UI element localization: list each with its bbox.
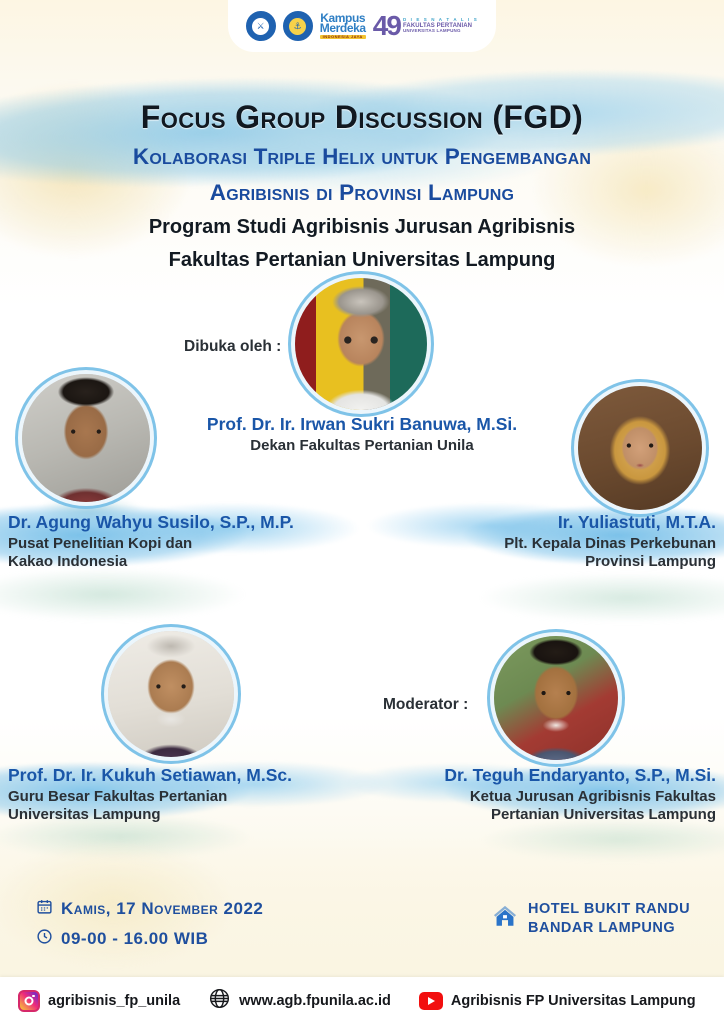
person-name: Ir. Yuliastuti, M.T.A.: [504, 512, 716, 532]
avatar-kukuh-setiawan: [108, 631, 234, 757]
page-title: Focus Group Discussion (FGD): [0, 100, 724, 135]
person-name: Prof. Dr. Ir. Kukuh Setiawan, M.Sc.: [8, 765, 292, 785]
person-role-line-2: Kakao Indonesia: [8, 553, 294, 571]
youtube-text: Agribisnis FP Universitas Lampung: [451, 993, 696, 1009]
instagram-text: agribisnis_fp_unila: [48, 993, 180, 1009]
person-kukuh-setiawan: [108, 631, 234, 757]
moderator-label: Moderator :: [383, 696, 468, 714]
logo-strip: ⚔ ⚓ Kampus Merdeka INDONESIA JAYA 49 D I…: [228, 0, 496, 52]
kemdikbud-seal-icon: ⚔: [246, 11, 276, 41]
instagram-handle[interactable]: agribisnis_fp_unila: [18, 990, 180, 1012]
home-icon: [492, 903, 518, 934]
youtube-icon: [419, 992, 443, 1010]
title-block: Focus Group Discussion (FGD) Kolaborasi …: [0, 100, 724, 273]
opened-by-label: Dibuka oleh :: [184, 338, 281, 356]
person-role-line-1: Guru Besar Fakultas Pertanian: [8, 788, 292, 806]
kampus-merdeka-line2: Merdeka: [320, 23, 366, 34]
event-time: 09-00 - 16.00 WIB: [61, 929, 208, 949]
person-role-line-1: Ketua Jurusan Agribisnis Fakultas: [444, 788, 716, 806]
person-role-line-2: Pertanian Universitas Lampung: [444, 806, 716, 824]
dies-natalis-line3: UNIVERSITAS LAMPUNG: [403, 29, 478, 34]
organizer-line-1: Program Studi Agribisnis Jurusan Agribis…: [0, 215, 724, 239]
footer-bar: agribisnis_fp_unila www.agb.fpunila.ac.i…: [0, 977, 724, 1024]
label-kukuh-setiawan: Prof. Dr. Ir. Kukuh Setiawan, M.Sc. Guru…: [8, 765, 292, 824]
person-teguh-endaryanto: [494, 636, 618, 760]
event-time-row: 09-00 - 16.00 WIB: [36, 928, 263, 950]
subtitle-line-1: Kolaborasi Triple Helix untuk Pengembang…: [0, 143, 724, 170]
dies-natalis-number: 49: [373, 12, 400, 40]
label-irwan-sukri-banuwa: Prof. Dr. Ir. Irwan Sukri Banuwa, M.Si. …: [0, 414, 724, 455]
poster-canvas: ⚔ ⚓ Kampus Merdeka INDONESIA JAYA 49 D I…: [0, 0, 724, 1024]
venue-line-2: BANDAR LAMPUNG: [528, 920, 675, 936]
website-text: www.agb.fpunila.ac.id: [239, 993, 391, 1009]
label-teguh-endaryanto: Dr. Teguh Endaryanto, S.P., M.Si. Ketua …: [444, 765, 716, 824]
subtitle-line-2: Agribisnis di Provinsi Lampung: [0, 179, 724, 206]
person-name: Prof. Dr. Ir. Irwan Sukri Banuwa, M.Si.: [0, 414, 724, 434]
event-datetime-block: Kamis, 17 November 2022 09-00 - 16.00 WI…: [36, 898, 263, 950]
organizer-line-2: Fakultas Pertanian Universitas Lampung: [0, 248, 724, 272]
person-role-line-2: Provinsi Lampung: [504, 553, 716, 571]
youtube-channel[interactable]: Agribisnis FP Universitas Lampung: [419, 992, 696, 1010]
avatar-irwan-sukri-banuwa: [295, 278, 427, 410]
person-role: Dekan Fakultas Pertanian Unila: [0, 437, 724, 455]
venue-text: HOTEL BUKIT RANDU BANDAR LAMPUNG: [528, 900, 690, 938]
venue-line-1: HOTEL BUKIT RANDU: [528, 901, 690, 917]
person-name: Dr. Teguh Endaryanto, S.P., M.Si.: [444, 765, 716, 785]
label-yuliastuti: Ir. Yuliastuti, M.T.A. Plt. Kepala Dinas…: [504, 512, 716, 571]
dies-natalis-logo: 49 D I E S N A T A L I S FAKULTAS PERTAN…: [373, 12, 479, 40]
event-venue-block: HOTEL BUKIT RANDU BANDAR LAMPUNG: [492, 900, 690, 938]
event-date-row: Kamis, 17 November 2022: [36, 898, 263, 920]
kampus-merdeka-logo: Kampus Merdeka INDONESIA JAYA: [320, 13, 366, 40]
person-role-line-1: Pusat Penelitian Kopi dan: [8, 535, 294, 553]
person-role-line-1: Plt. Kepala Dinas Perkebunan: [504, 535, 716, 553]
person-name: Dr. Agung Wahyu Susilo, S.P., M.P.: [8, 512, 294, 532]
person-role-line-2: Universitas Lampung: [8, 806, 292, 824]
kampus-merdeka-tagline: INDONESIA JAYA: [320, 35, 366, 39]
clock-icon: [36, 928, 53, 950]
person-irwan-sukri-banuwa: [295, 278, 427, 410]
website-link[interactable]: www.agb.fpunila.ac.id: [208, 987, 391, 1015]
instagram-icon: [18, 990, 40, 1012]
label-agung-wahyu-susilo: Dr. Agung Wahyu Susilo, S.P., M.P. Pusat…: [8, 512, 294, 571]
event-date: Kamis, 17 November 2022: [61, 899, 263, 919]
unila-seal-icon: ⚓: [283, 11, 313, 41]
globe-icon: [208, 987, 231, 1015]
calendar-icon: [36, 898, 53, 920]
avatar-teguh-endaryanto: [494, 636, 618, 760]
